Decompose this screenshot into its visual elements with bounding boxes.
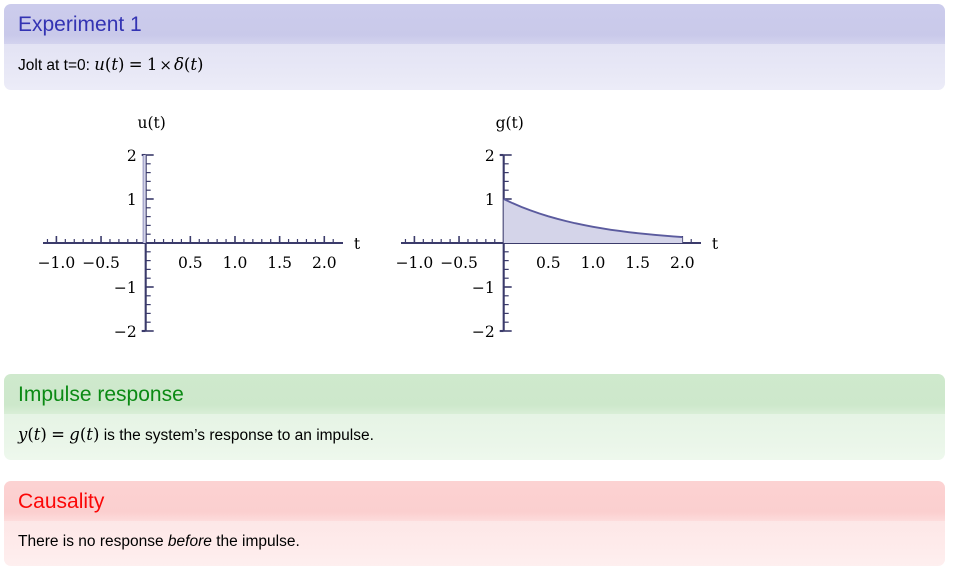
y-tick-label: 2 [485, 147, 495, 165]
x-axis-label: t [354, 235, 361, 253]
chart-impulse-response: g(t)−1.0−0.50.51.01.52.0−2−112t [368, 104, 728, 359]
x-tick-label: 1.5 [267, 254, 292, 272]
chart-title: u(t) [138, 114, 166, 132]
math-t-4: t [86, 425, 93, 444]
x-tick-label: −0.5 [440, 254, 478, 272]
y-tick-label: −2 [472, 323, 495, 341]
x-tick-label: 1.5 [625, 254, 650, 272]
y-tick-label: −1 [114, 279, 137, 297]
experiment-body-prefix: Jolt at t=0: [18, 57, 90, 74]
causality-body-after: the impulse. [216, 533, 300, 550]
causality-body-emph: before [168, 533, 212, 550]
math-equals-2: = [51, 425, 65, 444]
x-tick-label: 0.5 [178, 254, 203, 272]
x-tick-label: 1.0 [581, 254, 606, 272]
math-times-icon: × [157, 56, 174, 74]
chart-title: g(t) [496, 114, 524, 132]
causality-block: Causality There is no response before th… [4, 481, 945, 566]
math-equals: = [129, 55, 143, 74]
causality-block-title: Causality [4, 481, 945, 521]
experiment-block-body: Jolt at t=0: u(t) = 1×δ(t) [4, 44, 945, 90]
y-tick-label: −1 [472, 279, 495, 297]
causality-body-before: There is no response [18, 533, 164, 550]
chart-input-signal: u(t)−1.0−0.50.51.01.52.0−2−112t [10, 104, 370, 359]
impulse-response-svg: g(t)−1.0−0.50.51.01.52.0−2−112t [368, 104, 728, 354]
math-amplitude: 1 [147, 55, 158, 74]
math-paren-close-2: ) [197, 55, 203, 74]
causality-block-body: There is no response before the impulse. [4, 521, 945, 566]
x-axis-label: t [712, 235, 719, 253]
math-y: y [18, 425, 27, 444]
x-tick-label: −1.0 [396, 254, 434, 272]
impulse-response-body-text: is the system’s response to an impulse. [104, 427, 374, 444]
x-tick-label: −0.5 [82, 254, 120, 272]
slide: Experiment 1 Jolt at t=0: u(t) = 1×δ(t) … [0, 0, 954, 564]
y-tick-label: 1 [127, 191, 137, 209]
x-tick-label: −1.0 [38, 254, 76, 272]
y-tick-label: 1 [485, 191, 495, 209]
figures-row: u(t)−1.0−0.50.51.01.52.0−2−112t g(t)−1.0… [0, 104, 954, 354]
math-paren-close-3: ) [40, 425, 46, 444]
experiment-block-title: Experiment 1 [4, 4, 945, 44]
math-t-2: t [190, 55, 197, 74]
curve-area-fill [504, 199, 683, 243]
impulse-response-block-body: y(t) = g(t) is the system’s response to … [4, 414, 945, 460]
math-paren-close-4: ) [93, 425, 99, 444]
impulse-response-block-title: Impulse response [4, 374, 945, 414]
math-delta: δ [174, 55, 184, 74]
x-tick-label: 0.5 [536, 254, 561, 272]
y-tick-label: −2 [114, 323, 137, 341]
x-tick-label: 1.0 [223, 254, 248, 272]
y-tick-label: 2 [127, 147, 137, 165]
math-t-1: t [111, 55, 118, 74]
impulse-response-block: Impulse response y(t) = g(t) is the syst… [4, 374, 945, 460]
math-u: u [94, 55, 105, 74]
math-g: g [69, 425, 80, 444]
math-paren-close-1: ) [118, 55, 124, 74]
experiment-block: Experiment 1 Jolt at t=0: u(t) = 1×δ(t) [4, 4, 945, 90]
input-signal-svg: u(t)−1.0−0.50.51.01.52.0−2−112t [10, 104, 370, 354]
x-tick-label: 2.0 [312, 254, 337, 272]
x-tick-label: 2.0 [670, 254, 695, 272]
